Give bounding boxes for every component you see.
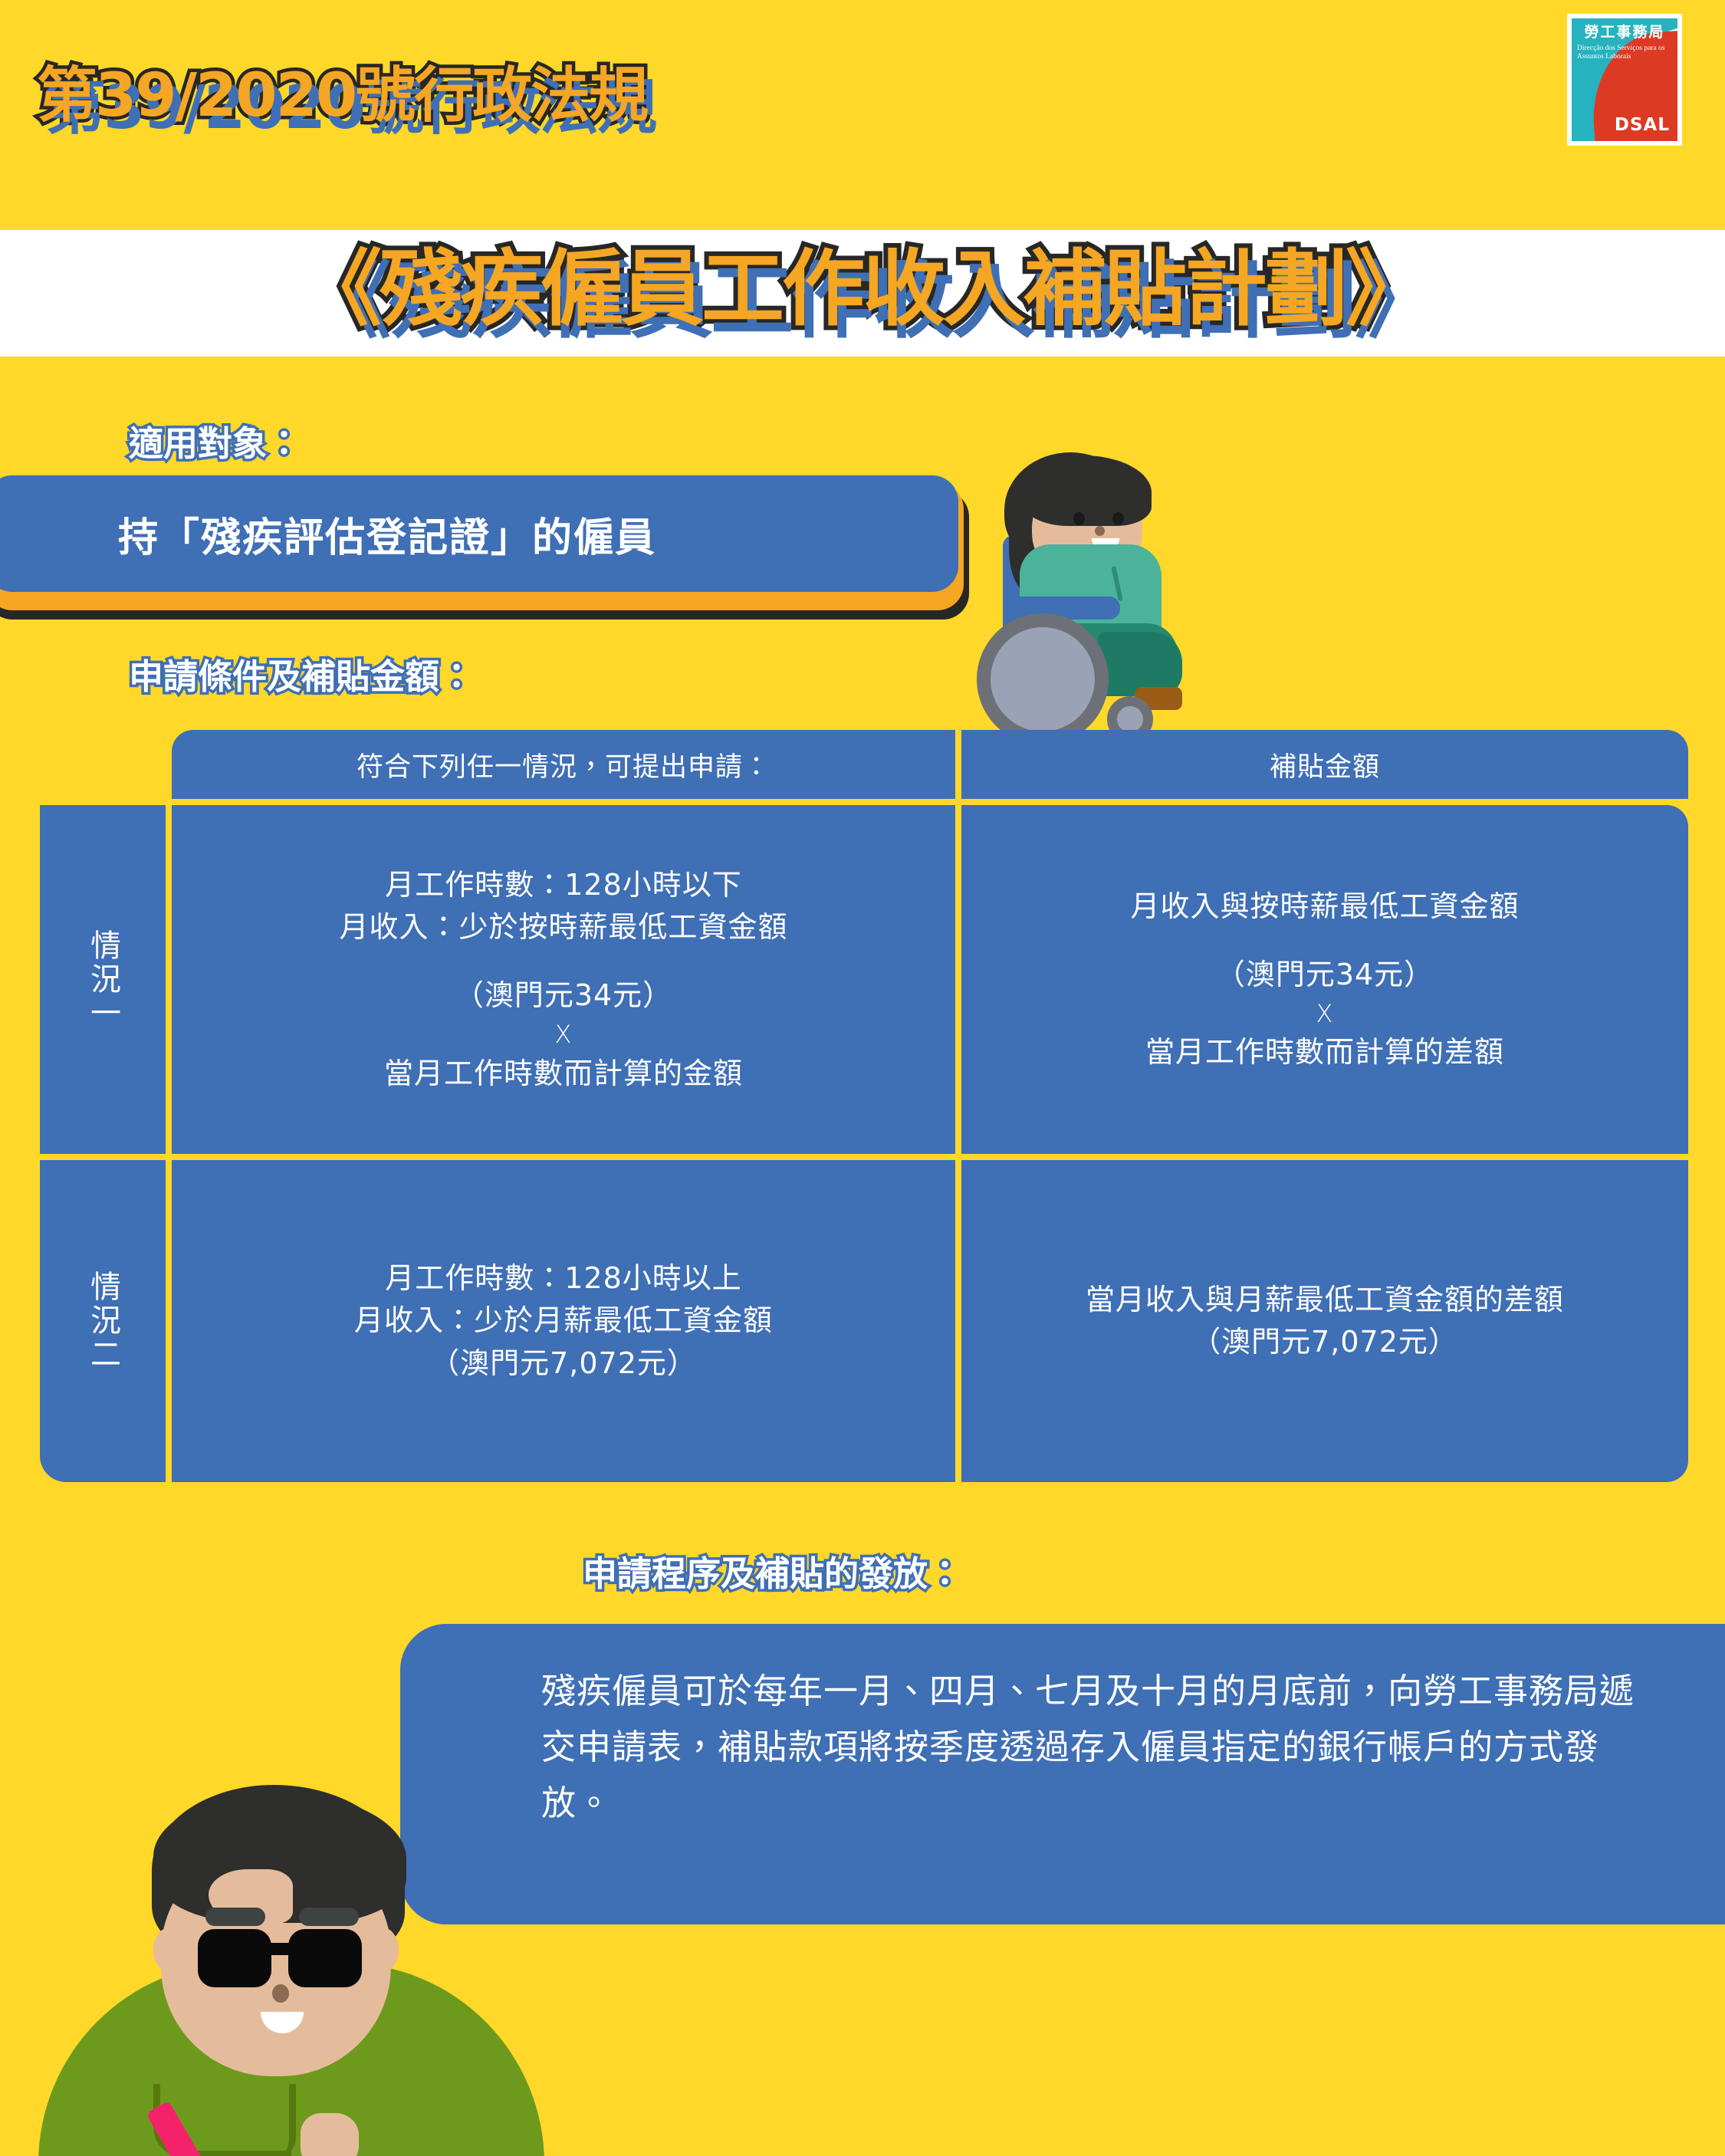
shirt-pocket-edge (276, 2084, 296, 2156)
condition-line: 月工作時數：128小時以上 (385, 1257, 742, 1300)
condition-line: 月收入：少於月薪最低工資金額 (354, 1300, 773, 1342)
target-text: 持「殘疾評估登記證」的僱員 (0, 505, 656, 563)
amount-line: 當月工作時數而計算的差額 (1145, 1031, 1504, 1073)
eye-right (1112, 512, 1124, 525)
eyebrow-left (205, 1908, 265, 1926)
cell-condition-case-1: 月工作時數：128小時以下 月收入：少於按時薪最低工資金額 （澳門元34元） X… (172, 805, 955, 1154)
amount-line: （澳門元34元） (1216, 954, 1434, 996)
sunglasses-bridge (268, 1943, 293, 1955)
conditions-table: 符合下列任一情況，可提出申請： 補貼金額 情況一 月工作時數：128小時以下 月… (40, 730, 1688, 1482)
logo-abbreviation: DSAL (1615, 115, 1670, 135)
multiply-symbol: X (1316, 996, 1334, 1031)
procedure-text: 殘疾僱員可於每年一月、四月、七月及十月的月底前，向勞工事務局遞交申請表，補貼款項… (400, 1624, 1725, 1924)
conditions-heading: 申請條件及補貼金額： (129, 659, 474, 694)
hand (301, 2113, 359, 2156)
sunglasses-lens-right (288, 1929, 362, 1987)
logo-inner: 勞工事務局 Direcção dos Serviços para os Assu… (1572, 18, 1677, 141)
condition-line: （澳門元7,072元） (430, 1343, 697, 1385)
amount-line: （澳門元7,072元） (1191, 1321, 1458, 1363)
condition-line: 當月工作時數而計算的金額 (384, 1053, 743, 1095)
cell-condition-case-2: 月工作時數：128小時以上 月收入：少於月薪最低工資金額 （澳門元7,072元） (172, 1160, 955, 1482)
cell-amount-case-2: 當月收入與月薪最低工資金額的差額 （澳門元7,072元） (961, 1160, 1688, 1482)
table-header-row: 符合下列任一情況，可提出申請： 補貼金額 (172, 730, 1688, 799)
condition-line: （澳門元34元） (455, 974, 672, 1017)
condition-line: 月工作時數：128小時以下 (385, 864, 742, 906)
hair-top (1021, 455, 1152, 526)
condition-line: 月收入：少於按時薪最低工資金額 (339, 906, 787, 948)
sunglasses-lens-left (198, 1929, 271, 1987)
wheelchair-user-illustration (964, 451, 1240, 758)
table-row: 情況一 月工作時數：128小時以下 月收入：少於按時薪最低工資金額 （澳門元34… (40, 805, 1688, 1154)
row-label-case-1: 情況一 (40, 805, 166, 1154)
target-callout: 持「殘疾評估登記證」的僱員 (0, 475, 958, 592)
wheelchair-wheel-large (977, 613, 1109, 745)
logo-chinese-name: 勞工事務局 (1576, 25, 1673, 40)
table-row: 情況二 月工作時數：128小時以上 月收入：少於月薪最低工資金額 （澳門元7,0… (40, 1160, 1688, 1482)
dsal-logo: 勞工事務局 Direcção dos Serviços para os Assu… (1567, 14, 1682, 146)
column-header-condition: 符合下列任一情況，可提出申請： (172, 730, 955, 799)
eye-left (1073, 512, 1085, 525)
amount-line: 當月收入與月薪最低工資金額的差額 (1086, 1279, 1564, 1321)
infographic-page: 勞工事務局 Direcção dos Serviços para os Assu… (0, 0, 1725, 2156)
logo-portuguese-name: Direcção dos Serviços para os Assuntos L… (1577, 44, 1674, 61)
cell-amount-case-1: 月收入與按時薪最低工資金額 （澳門元34元） X 當月工作時數而計算的差額 (961, 805, 1688, 1154)
amount-line: 月收入與按時薪最低工資金額 (1130, 886, 1519, 928)
multiply-symbol: X (555, 1017, 573, 1052)
target-heading: 適用對象： (129, 426, 301, 461)
row-label-case-2: 情況二 (40, 1160, 166, 1482)
regulation-number: 第39/2020號行政法規 (37, 66, 647, 126)
nose (1095, 526, 1105, 536)
column-header-amount: 補貼金額 (961, 730, 1688, 799)
page-title: 《殘疾僱員工作收入補貼計劃》 (27, 234, 1698, 346)
eyebrow-right (299, 1908, 359, 1926)
visually-impaired-man-illustration (8, 1754, 590, 2156)
procedure-heading: 申請程序及補貼的發放： (583, 1556, 962, 1591)
nose (272, 1984, 289, 2003)
